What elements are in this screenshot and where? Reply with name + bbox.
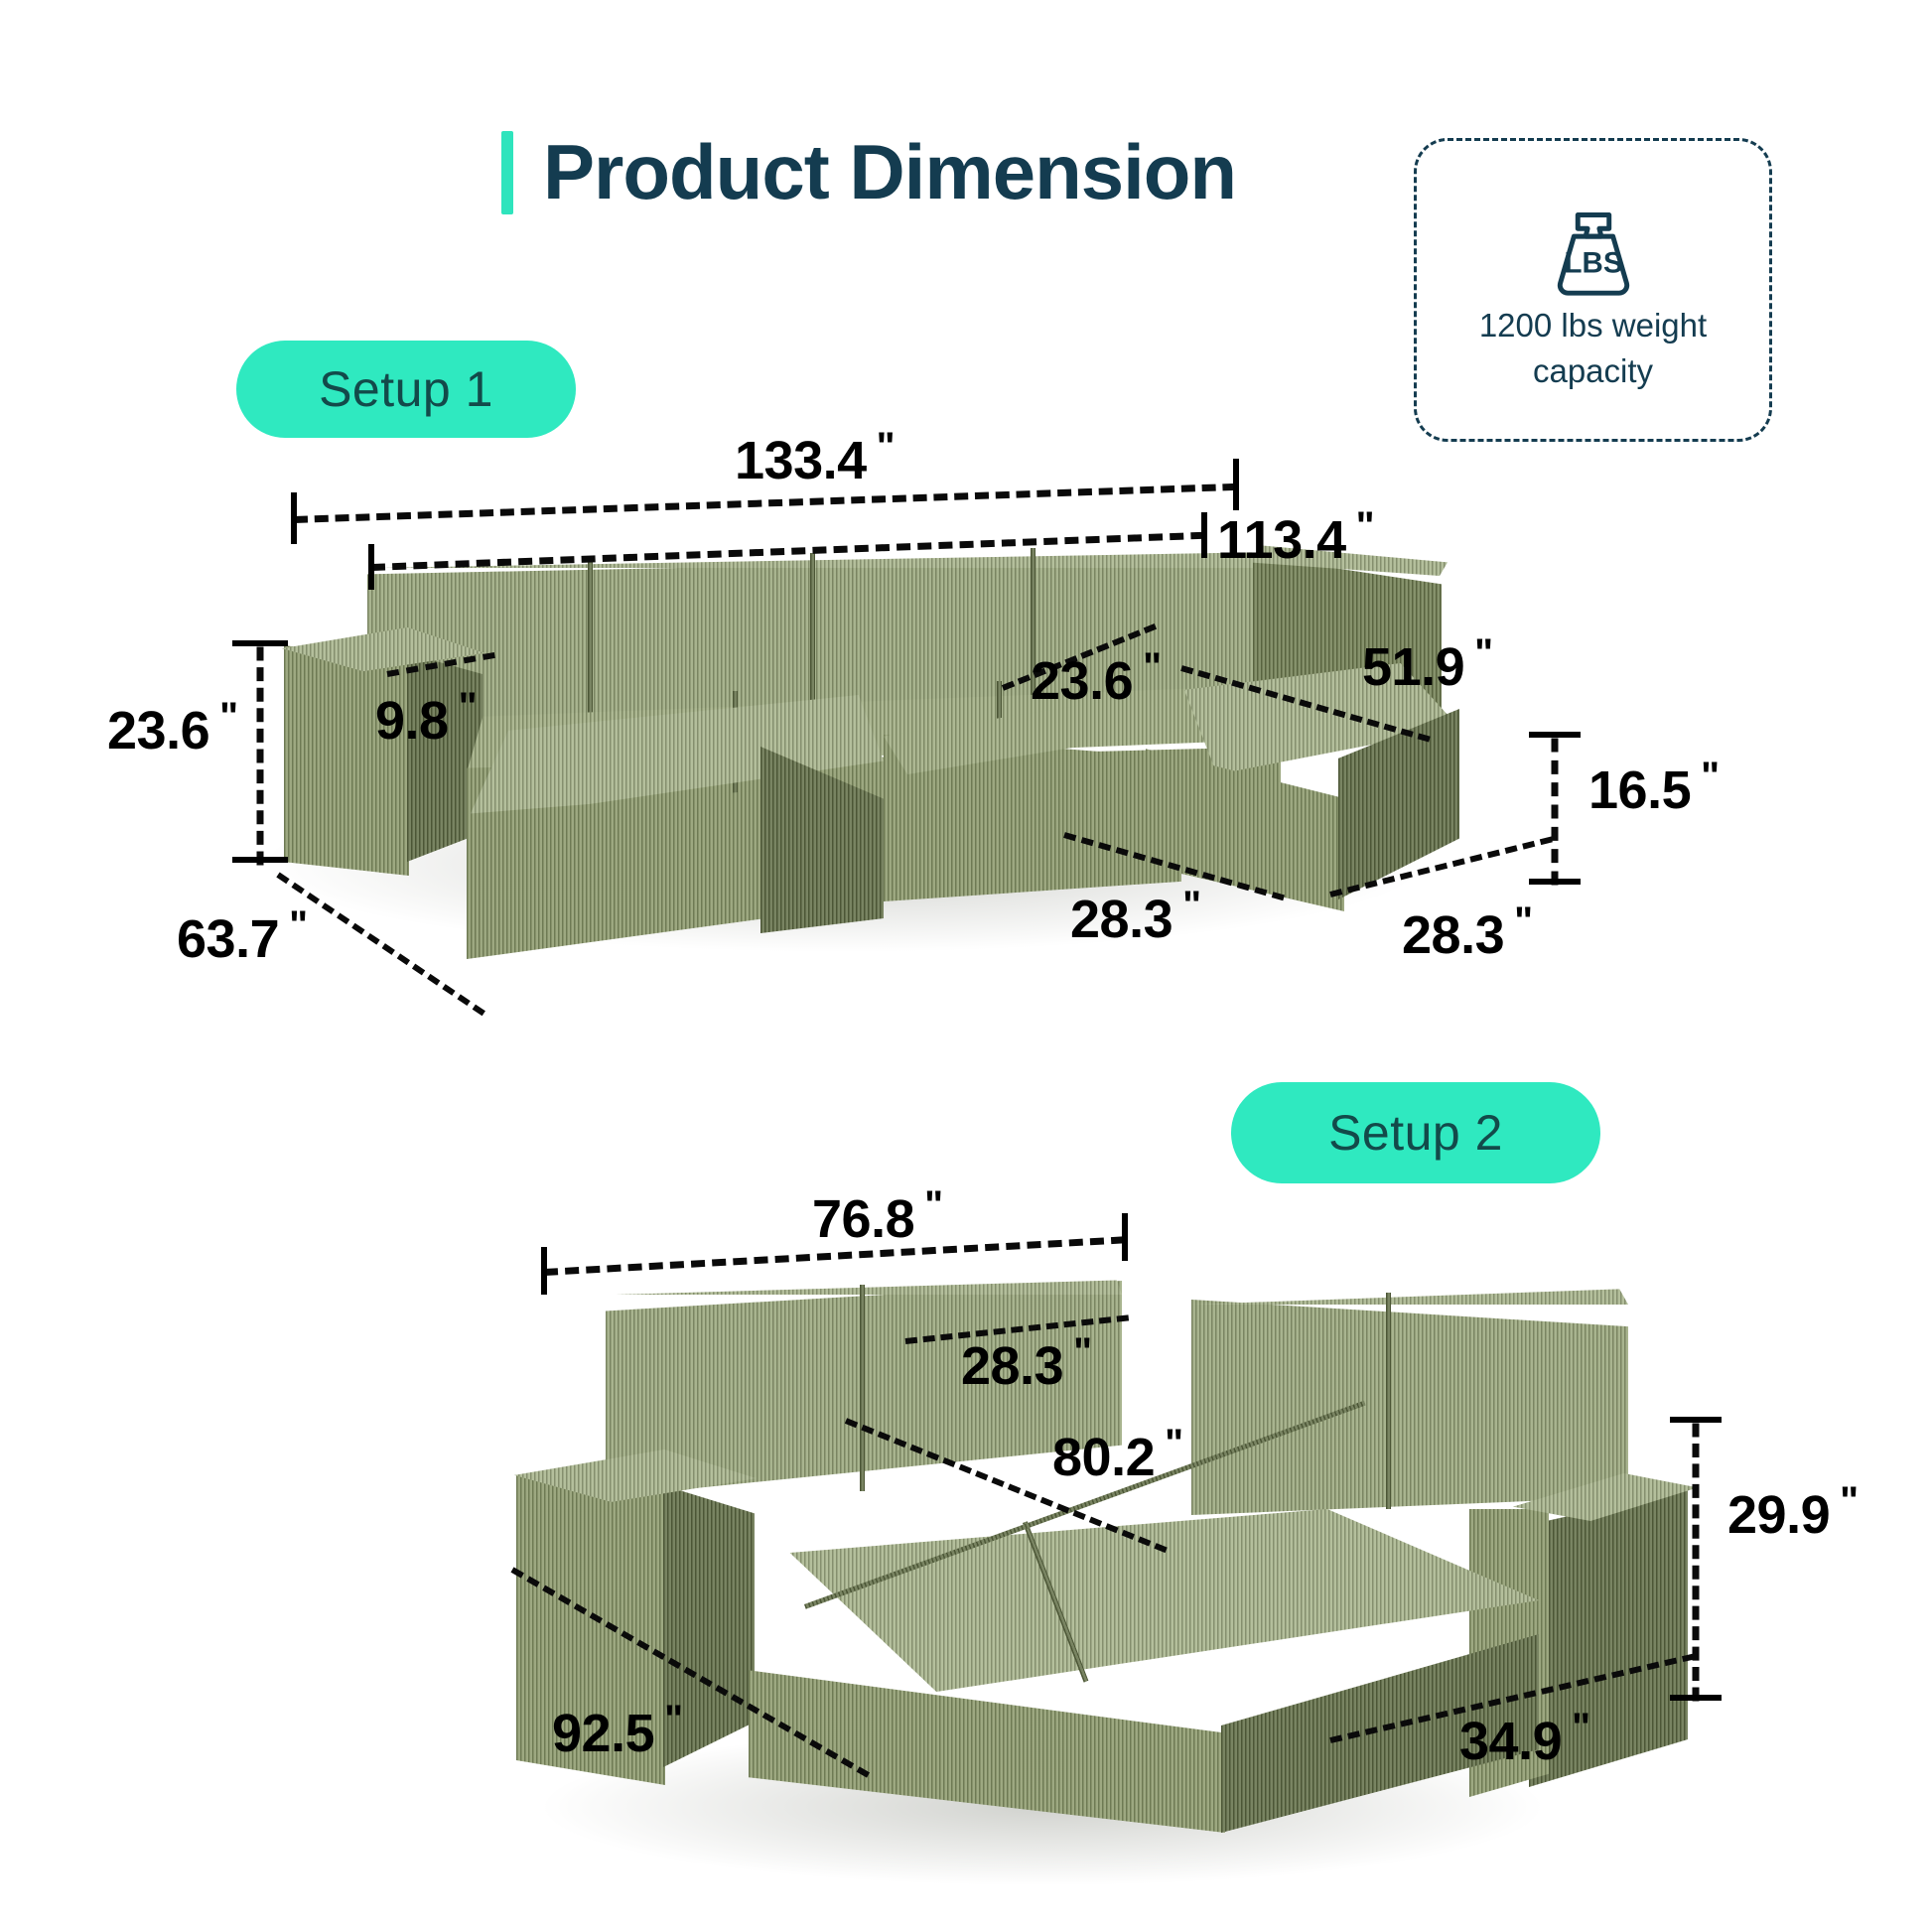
infographic-canvas: Product Dimension LBS 1200 lbs weight ca…	[0, 0, 1932, 1932]
sofa-2-bed-platform	[725, 1509, 1539, 1827]
dim-tick-16-5-top	[1529, 732, 1581, 738]
dim-label-28-3-setup2: 28.3"	[961, 1330, 1092, 1397]
dim-tick-29-9-top	[1670, 1417, 1722, 1423]
setup-2-sofa-illustration	[0, 1172, 1932, 1926]
dim-line-16-5	[1552, 739, 1559, 886]
dim-line-29-9	[1693, 1424, 1700, 1702]
dim-label-9-8: 9.8"	[375, 685, 477, 752]
dim-tick-76-8-left	[541, 1247, 547, 1295]
dim-label-113-4: 113.4"	[1217, 504, 1374, 571]
dim-tick-76-8-right	[1122, 1213, 1128, 1261]
dim-tick-16-5-bottom	[1529, 879, 1581, 885]
dim-line-height-23-6	[257, 647, 264, 866]
dim-label-height-23-6: 23.6"	[107, 695, 238, 761]
dim-tick-133-4-left	[291, 492, 297, 544]
dim-tick-29-9-bottom	[1670, 1695, 1722, 1701]
dim-label-51-9: 51.9"	[1362, 631, 1493, 698]
setup-1-sofa-illustration	[0, 0, 1932, 1013]
dim-label-seat-depth-23-6: 23.6"	[1031, 645, 1162, 712]
dim-label-133-4: 133.4"	[735, 425, 895, 491]
setup-2-badge: Setup 2	[1231, 1082, 1600, 1183]
dim-label-16-5: 16.5"	[1588, 755, 1720, 821]
dim-tick-height-bottom	[232, 857, 288, 863]
dim-label-28-3-a: 28.3"	[1070, 884, 1201, 950]
sofa-1-left-ottoman	[467, 695, 884, 973]
dim-tick-113-4-left	[368, 544, 374, 590]
dim-label-92-5: 92.5"	[552, 1698, 683, 1764]
dim-label-34-9: 34.9"	[1459, 1706, 1590, 1772]
dim-tick-height-top	[232, 640, 288, 646]
dim-label-28-3-b: 28.3"	[1402, 899, 1533, 966]
dim-tick-113-4-right	[1201, 512, 1207, 558]
dim-label-63-7: 63.7"	[177, 903, 308, 970]
dim-label-76-8: 76.8"	[812, 1183, 943, 1250]
dim-label-29-9: 29.9"	[1727, 1479, 1859, 1546]
dim-tick-133-4-right	[1233, 459, 1239, 510]
dim-label-80-2: 80.2"	[1052, 1422, 1183, 1488]
